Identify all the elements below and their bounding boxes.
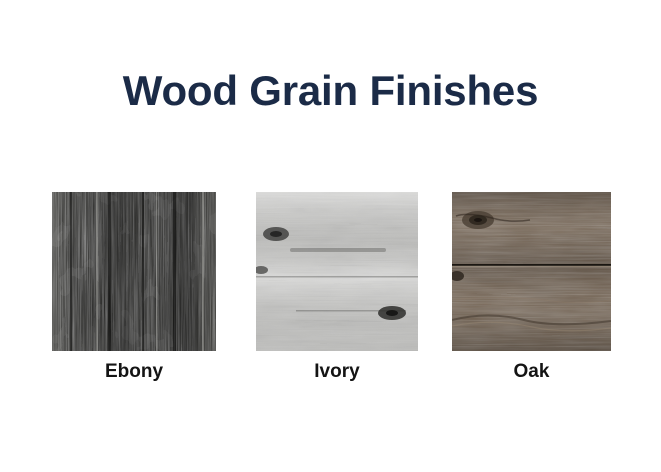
ebony-wood-swatch[interactable] (52, 192, 216, 351)
ebony-texture-image (52, 192, 216, 351)
ivory-wood-swatch[interactable] (256, 192, 418, 351)
wood-swatch-row: Ebony (0, 192, 661, 392)
slide-canvas: Wood Grain Finishes (0, 0, 661, 472)
swatch-item-ebony[interactable]: Ebony (52, 192, 216, 384)
swatch-label-ivory: Ivory (256, 361, 418, 384)
ivory-texture-image (256, 192, 418, 351)
swatch-label-oak: Oak (452, 361, 611, 384)
oak-texture-image (452, 192, 611, 351)
page-title: Wood Grain Finishes (0, 68, 661, 114)
swatch-item-oak[interactable]: Oak (452, 192, 611, 384)
oak-wood-swatch[interactable] (452, 192, 611, 351)
swatch-item-ivory[interactable]: Ivory (256, 192, 418, 384)
swatch-label-ebony: Ebony (52, 361, 216, 384)
